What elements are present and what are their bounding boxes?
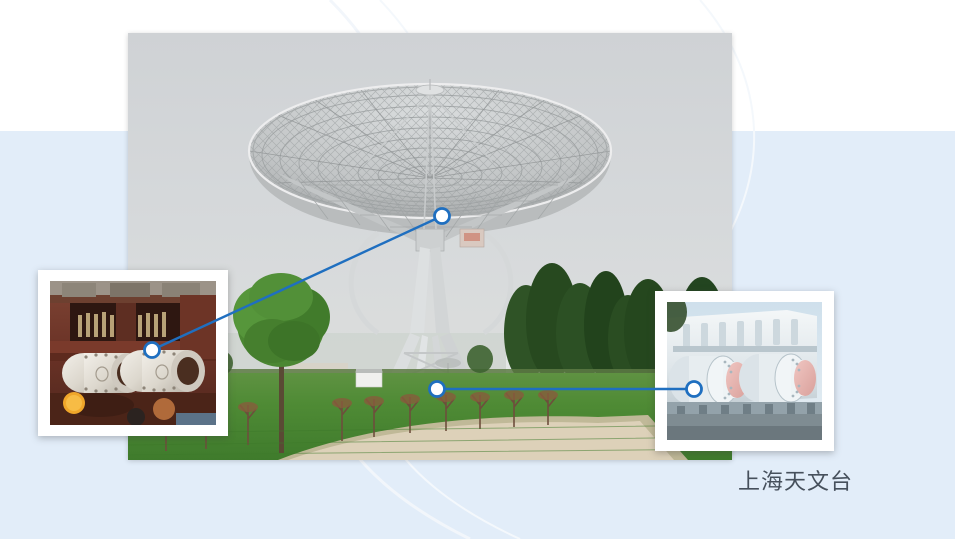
inset-left[interactable]	[38, 270, 228, 436]
drum-right-clean	[739, 354, 816, 402]
slide-canvas: 上海天文台	[0, 0, 955, 539]
caption-label: 上海天文台	[738, 470, 853, 496]
drum-right	[120, 350, 205, 392]
inset-right-image	[667, 302, 822, 440]
inset-left-image	[50, 281, 216, 425]
inset-right[interactable]	[655, 291, 834, 451]
drum-left-clean	[669, 356, 748, 404]
